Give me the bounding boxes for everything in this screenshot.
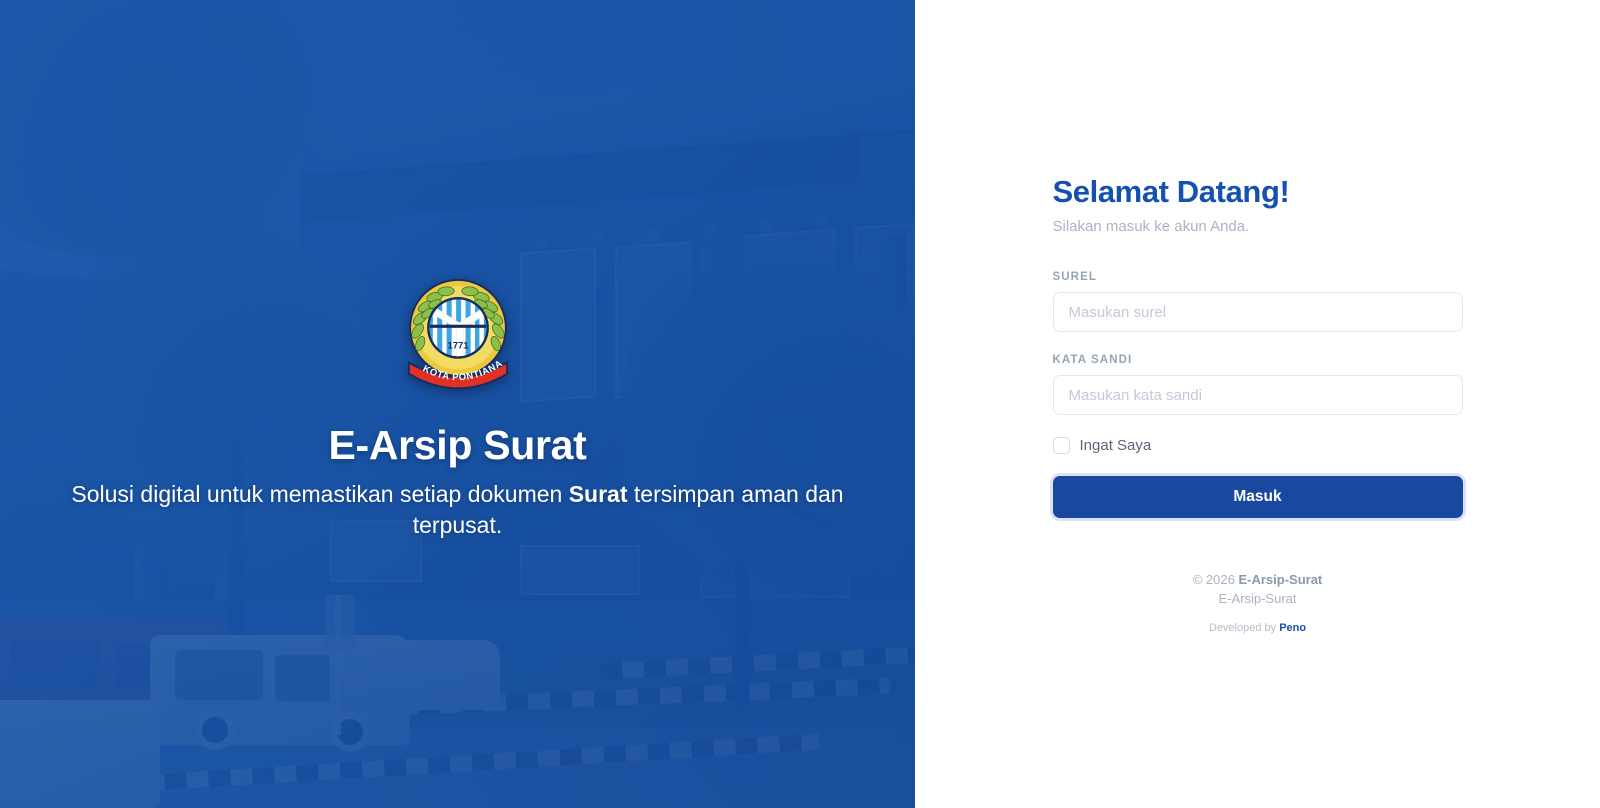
- remember-me-checkbox[interactable]: [1053, 437, 1070, 454]
- tagline-text-start: Solusi digital untuk memastikan setiap d…: [71, 481, 568, 507]
- tagline-highlight: Surat: [569, 481, 628, 507]
- footer-app-name: E-Arsip-Surat: [1053, 591, 1463, 606]
- footer-developer-name: Peno: [1279, 622, 1306, 634]
- hero-title: E-Arsip Surat: [328, 422, 586, 469]
- footer-developed-prefix: Developed by: [1209, 622, 1279, 634]
- hero-tagline: Solusi digital untuk memastikan setiap d…: [58, 479, 858, 540]
- password-label: KATA SANDI: [1053, 354, 1463, 366]
- email-field-group: SUREL: [1053, 271, 1463, 332]
- remember-me-label[interactable]: Ingat Saya: [1080, 437, 1152, 454]
- welcome-title: Selamat Datang!: [1053, 174, 1463, 210]
- email-label: SUREL: [1053, 271, 1463, 283]
- password-input[interactable]: [1053, 375, 1463, 415]
- remember-me-row: Ingat Saya: [1053, 437, 1463, 454]
- emblem-year-text: 1771: [447, 341, 468, 352]
- footer-developer-line: Developed by Peno: [1053, 622, 1463, 634]
- login-footer: © 2026 E-Arsip-Surat E-Arsip-Surat Devel…: [1053, 572, 1463, 634]
- password-field-group: KATA SANDI: [1053, 354, 1463, 415]
- footer-copyright-prefix: © 2026: [1193, 572, 1239, 587]
- welcome-subtitle: Silakan masuk ke akun Anda.: [1053, 218, 1463, 235]
- login-card: Selamat Datang! Silakan masuk ke akun An…: [1053, 174, 1463, 634]
- footer-brand: E-Arsip-Surat: [1238, 572, 1322, 587]
- kota-pontianak-emblem-icon: 1771 KOTA PONTIANAK: [395, 268, 521, 394]
- email-input[interactable]: [1053, 292, 1463, 332]
- footer-copyright: © 2026 E-Arsip-Surat: [1053, 572, 1463, 587]
- login-panel: Selamat Datang! Silakan masuk ke akun An…: [915, 0, 1600, 808]
- login-submit-button[interactable]: Masuk: [1053, 476, 1463, 518]
- hero-content: 1771 KOTA PONTIANAK E-Arsip Surat Solusi…: [0, 0, 915, 808]
- hero-panel: 1771 KOTA PONTIANAK E-Arsip Surat Solusi…: [0, 0, 915, 808]
